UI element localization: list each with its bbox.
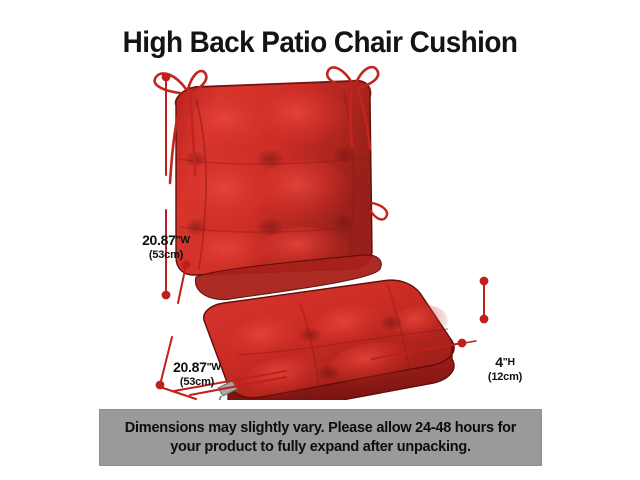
dimension-height-metric: (12cm) [474,371,536,383]
dimension-label-seat-width: 20.87"W (53cm) [154,360,240,388]
dimension-seat-width-value: 20.87"W [154,360,240,376]
product-illustration: 20.87"W (53cm) 20.87"W (53cm) 20.87"L (5… [0,55,640,400]
cushion-drawing [0,55,640,400]
dimension-back-width-value: 20.87"W [123,233,209,249]
dimension-back-width-metric: (53cm) [123,249,209,261]
disclaimer-text: Dimensions may slightly vary. Please all… [117,419,525,455]
dimension-label-back-width: 20.87"W (53cm) [123,233,209,261]
dimension-height-value: 4"H [474,355,536,371]
product-image-canvas: High Back Patio Chair Cushion [0,0,640,480]
disclaimer-banner: Dimensions may slightly vary. Please all… [99,409,542,466]
dimension-seat-width-metric: (53cm) [154,376,240,388]
dimension-label-height: 4"H (12cm) [474,355,536,383]
cushion-tie-back-lower [371,203,387,219]
